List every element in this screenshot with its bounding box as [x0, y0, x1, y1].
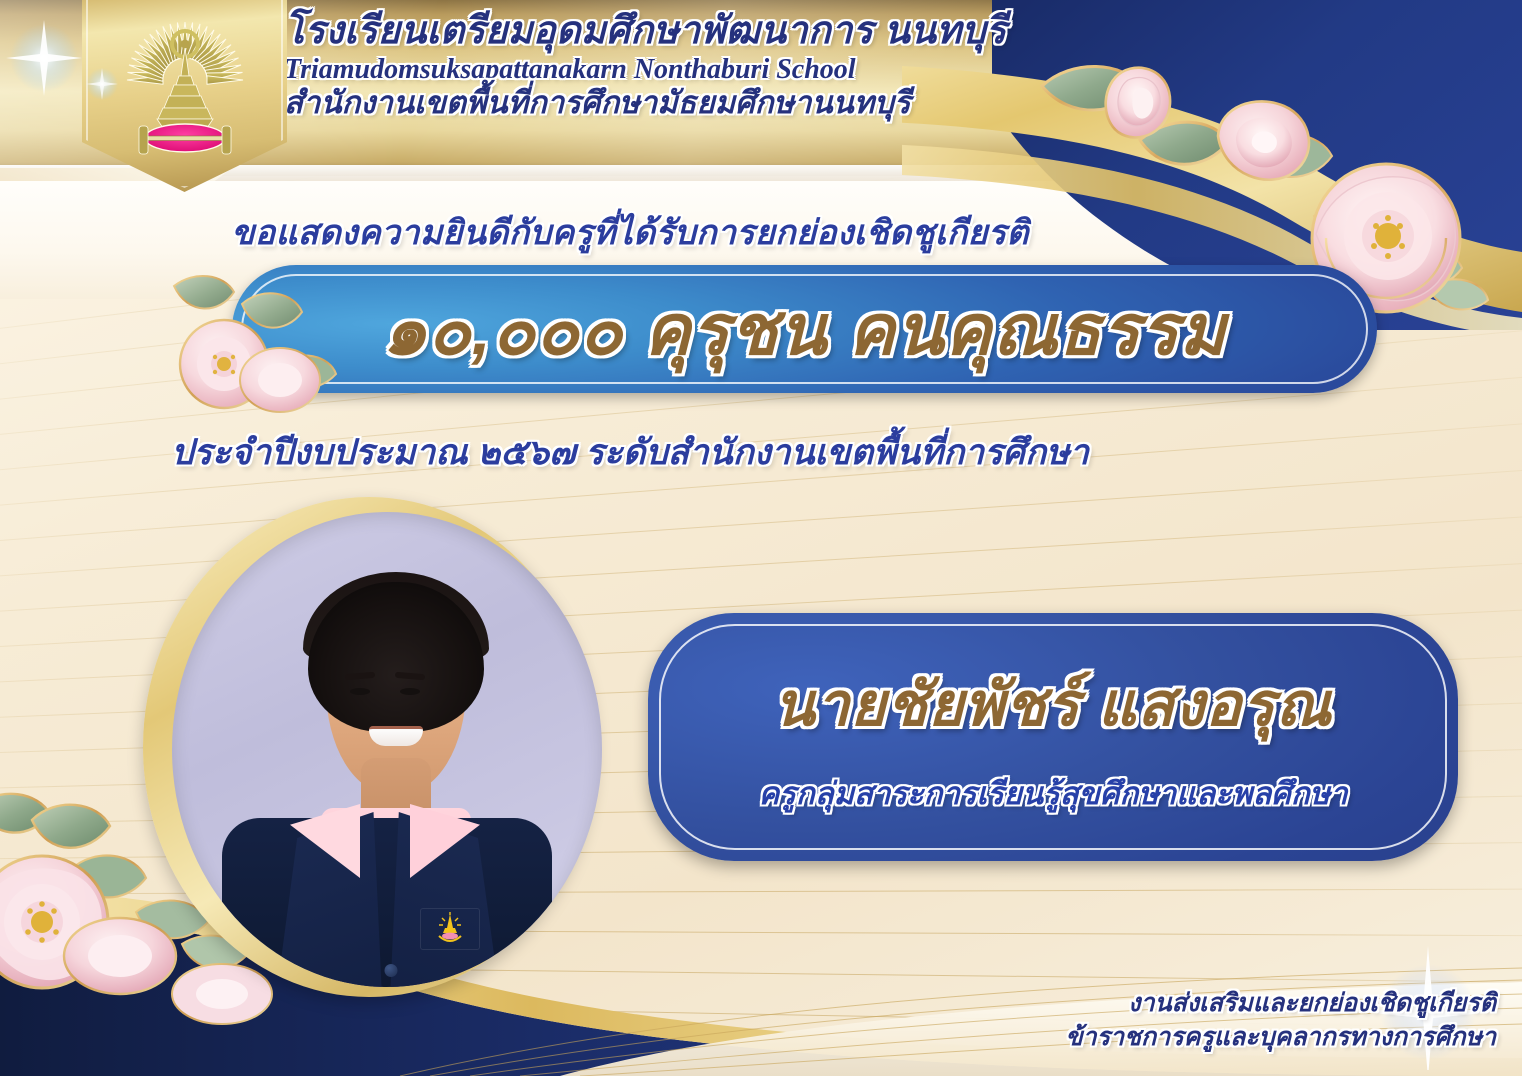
credit-line-1: งานส่งเสริมและยกย่องเชิดชูเกียรติ — [1065, 987, 1496, 1021]
credit-line-2: ข้าราชการครูและบุคลากรทางการศึกษา — [1065, 1021, 1496, 1055]
school-crest-icon — [117, 18, 253, 164]
award-title-text: ๑๐,๐๐๐ คุรุชน คนคุณธรรม — [232, 265, 1377, 393]
blazer-crest-icon — [434, 910, 466, 946]
honoree-text-block: นายชัยพัชร์ แสงอรุณ ครูกลุ่มสาระการเรียน… — [648, 613, 1458, 861]
school-name-thai: โรงเรียนเตรียมอุดมศึกษาพัฒนาการ นนทบุรี — [284, 12, 1064, 52]
congratulation-line: ขอแสดงความยินดีกับครูที่ได้รับการยกย่องเ… — [0, 205, 1260, 259]
congratulation-banner: โรงเรียนเตรียมอุดมศึกษาพัฒนาการ นนทบุรี … — [0, 0, 1522, 1076]
school-title-block: โรงเรียนเตรียมอุดมศึกษาพัฒนาการ นนทบุรี … — [284, 12, 1064, 120]
portrait-photo — [172, 512, 602, 987]
education-office-name: สำนักงานเขตพื้นที่การศึกษามัธยมศึกษานนทบ… — [284, 87, 1064, 120]
honoree-name: นายชัยพัชร์ แสงอรุณ — [774, 657, 1332, 752]
honoree-role: ครูกลุ่มสาระการเรียนรู้สุขศึกษาและพลศึกษ… — [758, 768, 1347, 818]
credit-block: งานส่งเสริมและยกย่องเชิดชูเกียรติ ข้าราช… — [1065, 987, 1496, 1054]
school-name-english: Triamudomsuksapattanakarn Nonthaburi Sch… — [284, 55, 1064, 84]
award-subtitle-line: ประจำปีงบประมาณ ๒๕๖๗ ระดับสำนักงานเขตพื้… — [0, 425, 1260, 480]
